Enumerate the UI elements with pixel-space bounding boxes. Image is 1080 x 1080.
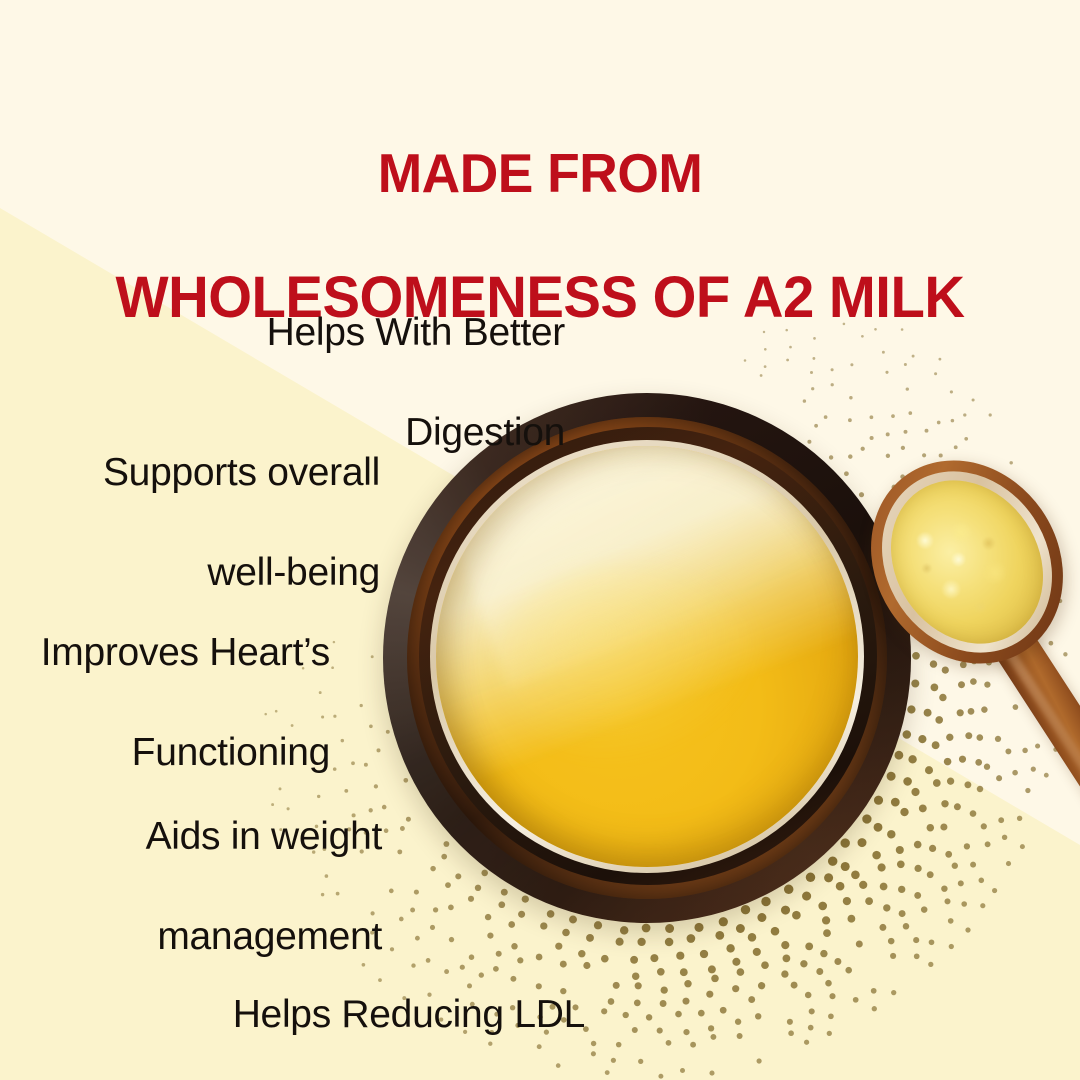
benefit-item-cholesterol: Helps Reducing LDL Cholesterol Level [60, 940, 585, 1080]
page-title-line-1: MADE FROM [16, 144, 1064, 204]
benefit-line-1: Helps Reducing LDL [60, 990, 585, 1040]
benefit-line-1: Supports overall [0, 448, 380, 498]
ghee-inner-shadow [436, 446, 858, 867]
poster-canvas: MADE FROM WHOLESOMENESS OF A2 MILK Helps… [0, 0, 1080, 1080]
benefit-line-1: Aids in weight [0, 812, 382, 862]
ghee-spoon [852, 440, 1080, 870]
spoon-solid-ghee [860, 451, 1074, 673]
benefit-line-1: Helps With Better [60, 308, 565, 358]
benefit-line-1: Improves Heart’s [0, 628, 330, 678]
ghee-surface [436, 446, 858, 867]
